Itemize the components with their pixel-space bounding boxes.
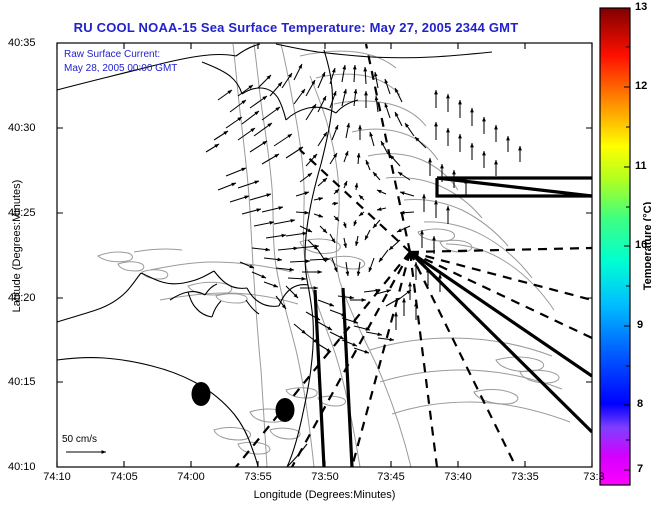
xtick-label: 73:45 bbox=[377, 471, 405, 483]
xtick-label: 74:10 bbox=[43, 471, 71, 483]
xtick-label: 74:00 bbox=[177, 471, 205, 483]
map-plot bbox=[0, 0, 651, 515]
ytick-label: 40:10 bbox=[8, 461, 36, 473]
x-axis-label: Longitude (Degrees:Minutes) bbox=[57, 489, 592, 501]
xtick-label: 73:35 bbox=[511, 471, 539, 483]
colorbar-tick-label: 8 bbox=[637, 398, 643, 410]
xtick-label: 73:50 bbox=[311, 471, 339, 483]
xtick-label: 73:55 bbox=[244, 471, 272, 483]
radar-station-marker bbox=[192, 382, 211, 406]
ytick-label: 40:30 bbox=[8, 122, 36, 134]
figure-canvas: RU COOL NOAA-15 Sea Surface Temperature:… bbox=[0, 0, 651, 515]
radar-station-marker bbox=[276, 398, 295, 422]
y-axis-label: Latitude (Degrees:Minutes) bbox=[11, 166, 23, 326]
ytick-label: 40:35 bbox=[8, 37, 36, 49]
colorbar-tick-label: 12 bbox=[635, 80, 647, 92]
xtick-label: 74:05 bbox=[110, 471, 138, 483]
xtick-label: 73:40 bbox=[444, 471, 472, 483]
vector-scale-label: 50 cm/s bbox=[62, 434, 97, 445]
colorbar-tick-label: 7 bbox=[637, 463, 643, 475]
ytick-label: 40:15 bbox=[8, 376, 36, 388]
xtick-label: 73:3 bbox=[583, 471, 604, 483]
colorbar-label: Temperature (°C) bbox=[642, 166, 651, 326]
colorbar-tick-label: 13 bbox=[635, 1, 647, 13]
